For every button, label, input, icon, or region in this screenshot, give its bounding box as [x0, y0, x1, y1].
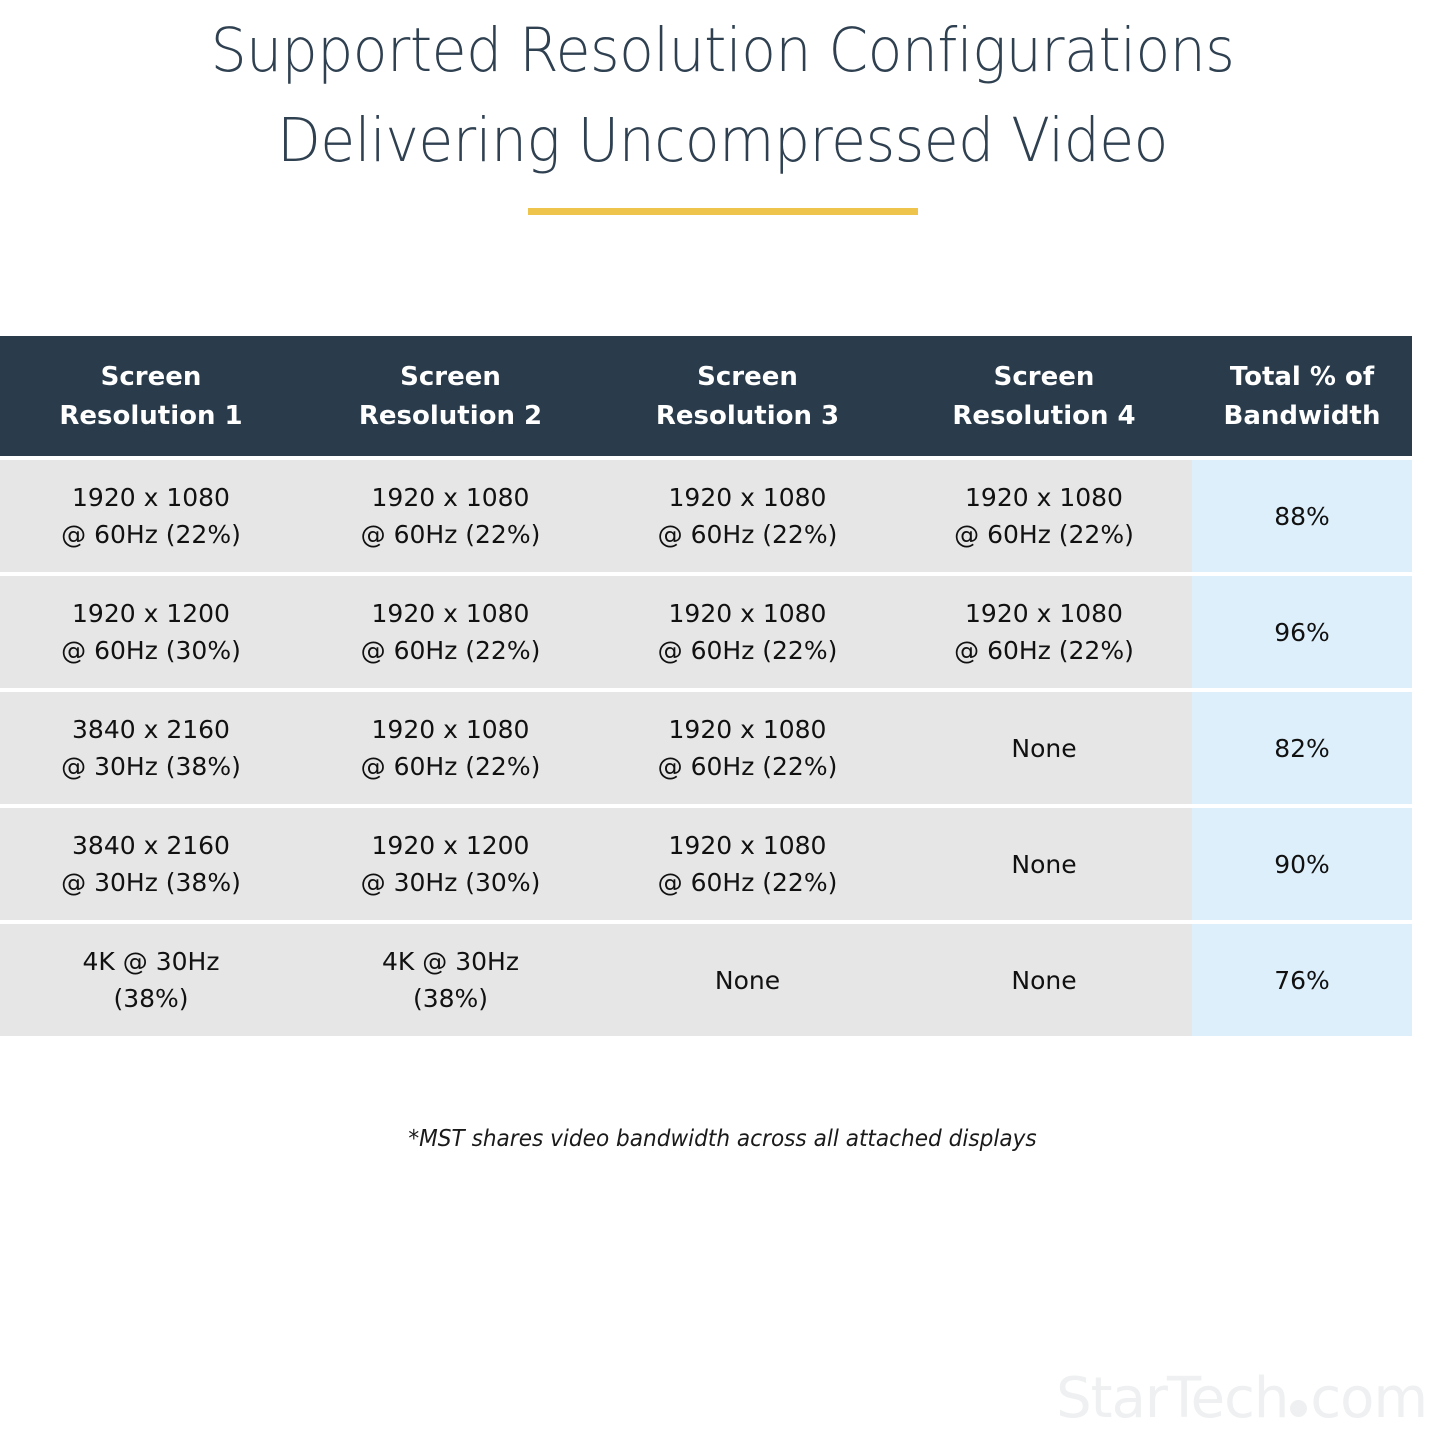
cell-resolution-3: 1920 x 1080 @ 60Hz (22%) [599, 692, 896, 804]
column-header-total-bandwidth: Total % of Bandwidth [1192, 336, 1412, 456]
resolution-table: Screen Resolution 1 Screen Resolution 2 … [0, 332, 1412, 1040]
column-header-line-2: Resolution 3 [603, 397, 892, 436]
column-header-screen-resolution-1: Screen Resolution 1 [0, 336, 302, 456]
cell-line-2: @ 60Hz (22%) [308, 516, 593, 553]
column-header-screen-resolution-2: Screen Resolution 2 [302, 336, 599, 456]
cell-line-2: @ 60Hz (22%) [902, 632, 1186, 669]
column-header-line-1: Screen [900, 358, 1188, 397]
cell-resolution-2: 1920 x 1080 @ 60Hz (22%) [302, 692, 599, 804]
cell-resolution-4: None [896, 692, 1192, 804]
cell-line-1: 1920 x 1200 [308, 827, 593, 864]
cell-line-2: @ 60Hz (22%) [605, 516, 890, 553]
cell-line-1: 3840 x 2160 [6, 711, 296, 748]
cell-resolution-1: 3840 x 2160 @ 30Hz (38%) [0, 692, 302, 804]
column-header-line-1: Screen [306, 358, 595, 397]
cell-resolution-1: 1920 x 1080 @ 60Hz (22%) [0, 460, 302, 572]
cell-line-1: None [605, 962, 890, 999]
cell-line-1: 1920 x 1080 [308, 479, 593, 516]
cell-line-2: @ 60Hz (22%) [605, 632, 890, 669]
cell-resolution-1: 3840 x 2160 @ 30Hz (38%) [0, 808, 302, 920]
cell-line-1: 4K @ 30Hz [308, 943, 593, 980]
cell-line-2: (38%) [6, 980, 296, 1017]
column-header-line-1: Screen [603, 358, 892, 397]
title-divider-wrap [0, 208, 1445, 215]
cell-line-1: 96% [1198, 614, 1406, 651]
column-header-line-1: Screen [4, 358, 298, 397]
cell-line-1: None [902, 846, 1186, 883]
startech-watermark: StarTech com [1056, 1371, 1427, 1427]
cell-line-1: 4K @ 30Hz [6, 943, 296, 980]
cell-resolution-2: 1920 x 1200 @ 30Hz (30%) [302, 808, 599, 920]
cell-total-bandwidth: 76% [1192, 924, 1412, 1036]
cell-line-1: None [902, 962, 1186, 999]
cell-line-1: 1920 x 1080 [902, 479, 1186, 516]
column-header-line-1: Total % of [1196, 358, 1408, 397]
cell-line-2: @ 30Hz (30%) [308, 864, 593, 901]
cell-line-1: 88% [1198, 498, 1406, 535]
cell-line-2: @ 60Hz (22%) [308, 632, 593, 669]
cell-resolution-4: 1920 x 1080 @ 60Hz (22%) [896, 460, 1192, 572]
cell-line-2: @ 30Hz (38%) [6, 864, 296, 901]
column-header-line-2: Bandwidth [1196, 397, 1408, 436]
cell-total-bandwidth: 90% [1192, 808, 1412, 920]
cell-resolution-3: None [599, 924, 896, 1036]
cell-line-1: 1920 x 1200 [6, 595, 296, 632]
table-row: 4K @ 30Hz (38%) 4K @ 30Hz (38%) None Non… [0, 924, 1412, 1036]
cell-resolution-4: None [896, 924, 1192, 1036]
cell-total-bandwidth: 82% [1192, 692, 1412, 804]
table-row: 1920 x 1080 @ 60Hz (22%) 1920 x 1080 @ 6… [0, 460, 1412, 572]
cell-line-2: @ 60Hz (22%) [6, 516, 296, 553]
cell-line-2: (38%) [308, 980, 593, 1017]
cell-resolution-3: 1920 x 1080 @ 60Hz (22%) [599, 808, 896, 920]
column-header-line-2: Resolution 4 [900, 397, 1188, 436]
cell-resolution-2: 1920 x 1080 @ 60Hz (22%) [302, 576, 599, 688]
cell-resolution-4: 1920 x 1080 @ 60Hz (22%) [896, 576, 1192, 688]
cell-line-1: 90% [1198, 846, 1406, 883]
page-title-line-1: Supported Resolution Configurations [51, 6, 1395, 96]
column-header-screen-resolution-4: Screen Resolution 4 [896, 336, 1192, 456]
footnote: *MST shares video bandwidth across all a… [43, 1126, 1401, 1152]
table-header-row: Screen Resolution 1 Screen Resolution 2 … [0, 336, 1412, 456]
cell-line-1: 1920 x 1080 [6, 479, 296, 516]
cell-line-2: @ 60Hz (30%) [6, 632, 296, 669]
cell-resolution-2: 4K @ 30Hz (38%) [302, 924, 599, 1036]
watermark-dot-icon [1290, 1400, 1307, 1417]
cell-resolution-1: 4K @ 30Hz (38%) [0, 924, 302, 1036]
table-row: 1920 x 1200 @ 60Hz (30%) 1920 x 1080 @ 6… [0, 576, 1412, 688]
column-header-screen-resolution-3: Screen Resolution 3 [599, 336, 896, 456]
cell-line-2: @ 60Hz (22%) [605, 864, 890, 901]
cell-total-bandwidth: 88% [1192, 460, 1412, 572]
resolution-table-wrap: Screen Resolution 1 Screen Resolution 2 … [0, 332, 1412, 1040]
cell-line-2: @ 60Hz (22%) [308, 748, 593, 785]
title-accent-divider [528, 208, 918, 215]
cell-line-1: 1920 x 1080 [605, 479, 890, 516]
cell-resolution-4: None [896, 808, 1192, 920]
cell-line-2: @ 30Hz (38%) [6, 748, 296, 785]
cell-line-1: 3840 x 2160 [6, 827, 296, 864]
cell-line-1: 1920 x 1080 [605, 827, 890, 864]
column-header-line-2: Resolution 2 [306, 397, 595, 436]
cell-line-1: 1920 x 1080 [605, 711, 890, 748]
table-row: 3840 x 2160 @ 30Hz (38%) 1920 x 1200 @ 3… [0, 808, 1412, 920]
cell-line-2: @ 60Hz (22%) [605, 748, 890, 785]
table-body: 1920 x 1080 @ 60Hz (22%) 1920 x 1080 @ 6… [0, 460, 1412, 1036]
cell-line-1: None [902, 730, 1186, 767]
page-title-line-2: Delivering Uncompressed Video [51, 96, 1395, 186]
cell-line-1: 1920 x 1080 [902, 595, 1186, 632]
table-header: Screen Resolution 1 Screen Resolution 2 … [0, 336, 1412, 456]
cell-line-1: 1920 x 1080 [605, 595, 890, 632]
column-header-line-2: Resolution 1 [4, 397, 298, 436]
watermark-tld: com [1310, 1371, 1427, 1427]
cell-resolution-1: 1920 x 1200 @ 60Hz (30%) [0, 576, 302, 688]
cell-line-2: @ 60Hz (22%) [902, 516, 1186, 553]
cell-line-1: 1920 x 1080 [308, 711, 593, 748]
cell-total-bandwidth: 96% [1192, 576, 1412, 688]
cell-line-1: 82% [1198, 730, 1406, 767]
cell-resolution-2: 1920 x 1080 @ 60Hz (22%) [302, 460, 599, 572]
cell-line-1: 76% [1198, 962, 1406, 999]
page-title: Supported Resolution Configurations Deli… [0, 0, 1445, 215]
table-row: 3840 x 2160 @ 30Hz (38%) 1920 x 1080 @ 6… [0, 692, 1412, 804]
cell-line-1: 1920 x 1080 [308, 595, 593, 632]
watermark-brand: StarTech [1056, 1371, 1288, 1427]
cell-resolution-3: 1920 x 1080 @ 60Hz (22%) [599, 460, 896, 572]
cell-resolution-3: 1920 x 1080 @ 60Hz (22%) [599, 576, 896, 688]
